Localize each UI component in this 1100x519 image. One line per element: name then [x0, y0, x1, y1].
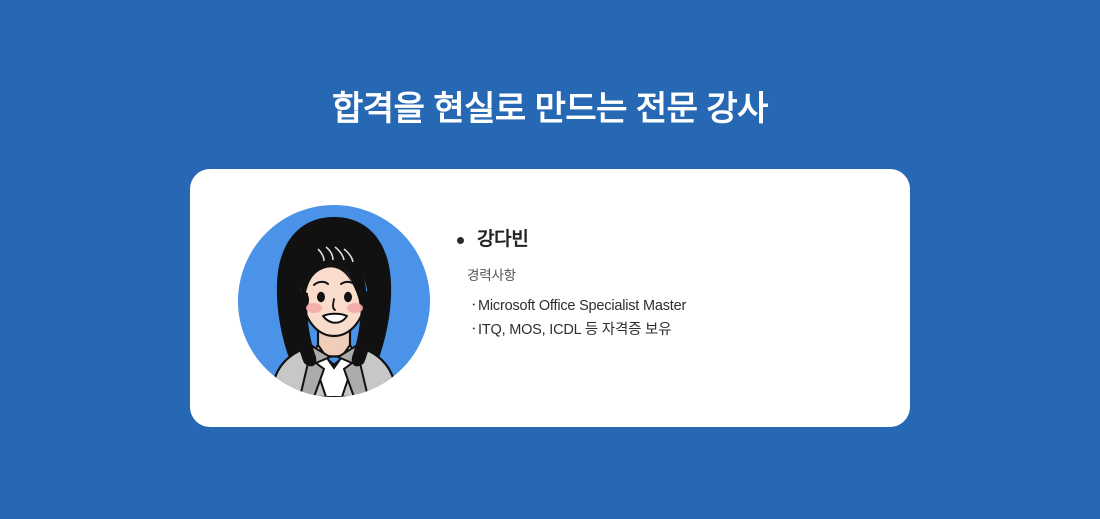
career-bullet-icon: ㆍ	[467, 294, 478, 318]
list-item: ㆍ Microsoft Office Specialist Master	[467, 294, 885, 318]
career-list: ㆍ Microsoft Office Specialist Master ㆍ I…	[467, 294, 885, 342]
page-title: 합격을 현실로 만드는 전문 강사	[0, 86, 1100, 132]
bullet-icon	[457, 237, 464, 244]
list-item: ㆍ ITQ, MOS, ICDL 등 자격증 보유	[467, 318, 885, 342]
instructor-card: 강다빈 경력사항 ㆍ Microsoft Office Specialist M…	[190, 169, 910, 427]
career-section-label: 경력사항	[467, 267, 885, 285]
eye-left	[317, 292, 325, 302]
instructor-name: 강다빈	[477, 229, 529, 251]
career-item-text: ITQ, MOS, ICDL 등 자격증 보유	[478, 318, 671, 342]
earring-left	[301, 307, 305, 311]
avatar-illustration	[238, 205, 430, 397]
blush-left	[306, 303, 322, 313]
blush-right	[347, 303, 363, 313]
instructor-info: 강다빈 경력사항 ㆍ Microsoft Office Specialist M…	[455, 229, 885, 342]
instructor-name-row: 강다빈	[455, 229, 885, 251]
career-bullet-icon: ㆍ	[467, 318, 478, 342]
career-item-text: Microsoft Office Specialist Master	[478, 294, 686, 318]
eye-right	[344, 292, 352, 302]
earring-right	[363, 307, 367, 311]
promo-banner: 합격을 현실로 만드는 전문 강사	[0, 0, 1100, 519]
avatar	[238, 205, 430, 397]
